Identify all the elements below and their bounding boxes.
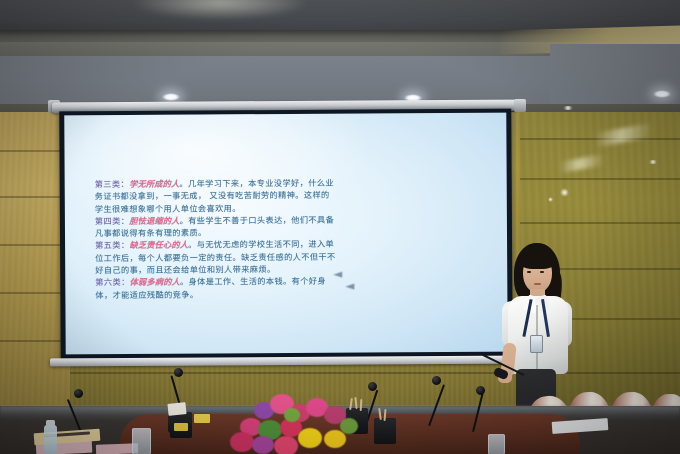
presenter-id-badge [530,335,543,353]
conference-room-photo: 第三类：学无所成的人。几年学习下来，本专业没学好，什么业 务证书都没拿到，一事无… [0,0,680,454]
slide-line-highlight: 胆怯退缩的人 [129,216,179,226]
slide-line-rest: 。几年学习下来，本专业没学好，什么业 [179,178,334,189]
slide-line-lead: 第三类： [95,179,129,189]
flower-petal [230,432,254,452]
flower-petal [324,430,346,448]
slide-line-lead: 第五类： [95,240,129,250]
mouse-cursor-icon [345,284,354,290]
flower-petal [340,418,358,434]
slide-line: 体，才能适应残酷的竞争。 [95,286,495,301]
slide-line-rest: 体，才能适应残酷的竞争。 [95,289,198,300]
microphone-head-icon [368,382,377,391]
slide-line-lead: 第四类： [95,216,129,226]
flower-petal [298,428,322,448]
bottle-cap [46,420,55,426]
wall-seam [520,222,680,224]
slide-line-rest: 。身体是工作、生活的本钱。有个好身 [180,276,326,287]
wall-light-spot [562,106,574,110]
wall-seam [0,340,70,342]
ceiling-light-glow [130,0,310,20]
slide-line-rest: 。有些学生不善于口头表达，他们不具备 [180,215,335,226]
drinking-glass [488,434,505,454]
presenter-eye-right [540,271,544,273]
slide-line-rest: 好自己的事，而且还会给单位和别人带来麻烦。 [95,264,275,275]
ceiling-right-panel [550,44,680,108]
slide-line-rest: 务证书都没拿到，一事无成， 又没有吃苦耐劳的精神。这样的 [95,190,330,201]
projector-screen: 第三类：学无所成的人。几年学习下来，本专业没学好，什么业 务证书都没拿到，一事无… [59,109,513,360]
drinking-glass [132,428,151,454]
downlight-icon [162,93,180,101]
slide-line-highlight: 学无所成的人 [129,179,179,189]
wall-light-spot [560,188,569,197]
slide-line-highlight: 体弱多病的人 [130,277,180,287]
document-paper [194,414,210,423]
presenter-mouth [534,283,541,285]
downlight-icon [653,90,671,98]
presenter-hair-fringe [520,251,555,269]
wall-light-spot [548,197,553,202]
slide-line-rest: 。与无忧无虑的学校生活不同，进入单 [188,239,334,250]
slide-line-rest: 凡事都说得有条有理的素质。 [95,228,207,239]
slide-text-block: 第三类：学无所成的人。几年学习下来，本专业没学好，什么业 务证书都没拿到，一事无… [95,176,496,301]
projected-slide: 第三类：学无所成的人。几年学习下来，本专业没学好，什么业 务证书都没拿到，一事无… [64,113,507,355]
presenter-eye-left [527,271,531,273]
flower-petal [284,408,300,422]
document-paper [167,402,186,416]
wall-seam [520,178,680,180]
screen-roller-cap-right [514,99,526,112]
slide-line-lead: 第六类： [95,277,129,287]
document-paper [174,423,188,431]
flower-petal [274,436,298,454]
slide-line-rest: 学生很难想象哪个用人单位会喜欢用。 [95,203,241,214]
flower-arrangement [228,392,418,454]
water-bottle [44,425,57,454]
slide-line-rest: 位工作后，每个人都要负一定的责任。缺乏责任感的人不但干不 [95,251,336,262]
wall-light-spot [648,160,658,164]
flower-petal [252,436,274,454]
wall-seam [70,372,680,374]
microphone-head-icon [174,368,183,377]
microphone-head-icon [476,386,485,395]
slide-line-highlight: 缺乏责任心的人 [129,240,188,250]
mouse-cursor-icon [333,272,342,278]
ceiling-upper-slab [0,0,680,32]
microphone-head-icon [74,389,83,398]
microphone-head-icon [432,376,441,385]
